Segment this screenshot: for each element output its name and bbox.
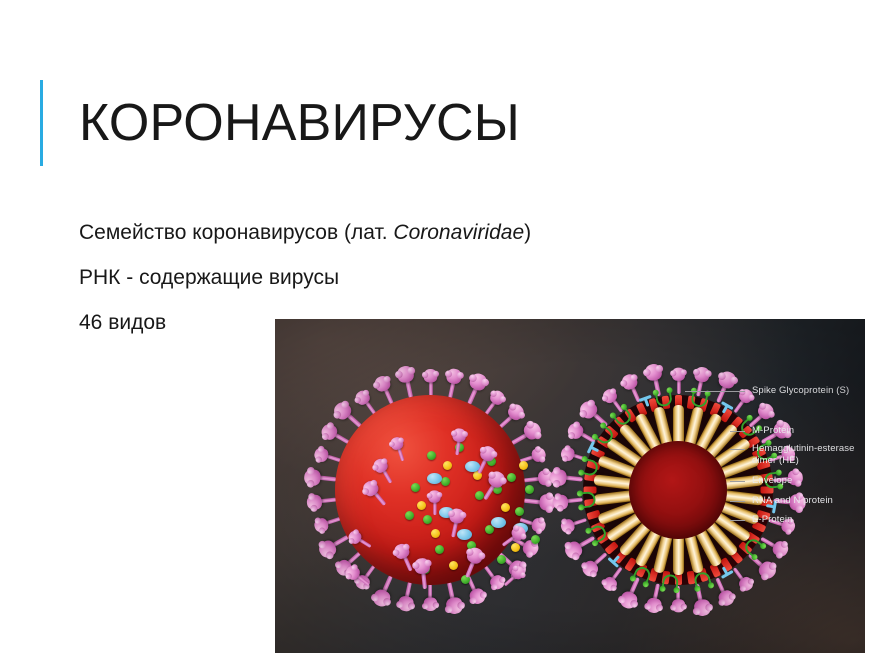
page-title: КОРОНАВИРУСЫ: [79, 97, 520, 149]
body-line-prefix: Семейство коронавирусов (лат.: [79, 221, 393, 244]
body-line: Семейство коронавирусов (лат. Coronaviri…: [79, 222, 639, 243]
slide-canvas: КОРОНАВИРУСЫ Семейство коронавирусов (ла…: [0, 0, 892, 669]
body-line-prefix: РНК - содержащие вирусы: [79, 266, 339, 289]
callout-text: Envelope: [752, 475, 792, 487]
latin-species-name: Coronaviridae: [393, 221, 524, 244]
spike-protein: [414, 557, 433, 589]
callout-leader-line: [730, 501, 745, 502]
callout-leader-line: [730, 520, 745, 521]
coronavirus-diagram-image: Spike Glycoprotein (S)M-ProteinHemagglut…: [275, 319, 865, 653]
callout-label: M-Protein: [730, 425, 794, 437]
callout-text: RNA and N protein: [752, 495, 833, 507]
callout-text: M-Protein: [752, 425, 794, 437]
callout-label: Hemagglutinin-esterase dimer (HE): [730, 443, 855, 467]
callout-label: E-Protein: [730, 514, 793, 526]
callout-text: Spike Glycoprotein (S): [752, 385, 849, 397]
callout-text: E-Protein: [752, 514, 793, 526]
body-line-suffix: ): [524, 221, 531, 244]
callout-text: Hemagglutinin-esterase dimer (HE): [752, 443, 855, 467]
callout-leader-line: [730, 431, 745, 432]
title-block: КОРОНАВИРУСЫ: [40, 80, 520, 166]
callout-leader-line: [730, 481, 745, 482]
callout-label: Envelope: [730, 475, 792, 487]
callout-leader-line: [730, 449, 745, 450]
callout-label: RNA and N protein: [730, 495, 833, 507]
body-line: РНК - содержащие вирусы: [79, 267, 639, 288]
title-accent-bar: [40, 80, 43, 166]
body-line-prefix: 46 видов: [79, 311, 166, 334]
body-text-block: Семейство коронавирусов (лат. Coronaviri…: [79, 222, 639, 333]
spike-protein: [428, 490, 440, 515]
callout-label: Spike Glycoprotein (S): [685, 385, 849, 397]
callout-leader-line: [685, 391, 745, 392]
